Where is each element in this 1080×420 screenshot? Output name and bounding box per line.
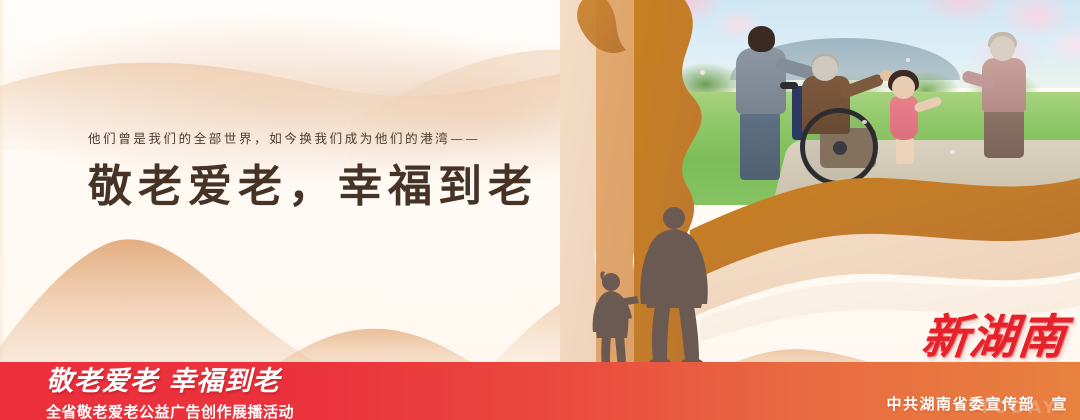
publisher-department: 中共湖南省委宣传部 宣 <box>886 393 1068 414</box>
grandfather-and-granddaughter-silhouette <box>575 196 775 376</box>
bottom-banner: 敬老爱老 幸福到老 全省敬老爱老公益广告创作展播活动 中共湖南省委宣传部 宣 T… <box>0 362 1080 420</box>
campaign-slogan-block: 敬老爱老 幸福到老 全省敬老爱老公益广告创作展播活动 <box>46 359 376 420</box>
kicker-line: 他们曾是我们的全部世界，如今换我们成为他们的港湾—— <box>88 128 548 147</box>
campaign-subtitle: 全省敬老爱老公益广告创作展播活动 <box>46 401 376 420</box>
campaign-slogan: 敬老爱老 幸福到老 <box>46 359 376 398</box>
publisher-block: 中共湖南省委宣传部 宣 <box>886 393 1068 414</box>
headline-text-block: 他们曾是我们的全部世界，如今换我们成为他们的港湾—— 敬老爱老，幸福到老 <box>88 128 548 213</box>
main-headline: 敬老爱老，幸福到老 <box>88 161 548 213</box>
brand-logo-xinhunan[interactable]: 新湖南 <box>890 306 1066 370</box>
brand-logo-text: 新湖南 <box>887 306 1070 370</box>
poster-canvas: 他们曾是我们的全部世界，如今换我们成为他们的港湾—— 敬老爱老，幸福到老 新湖南… <box>0 0 1080 420</box>
